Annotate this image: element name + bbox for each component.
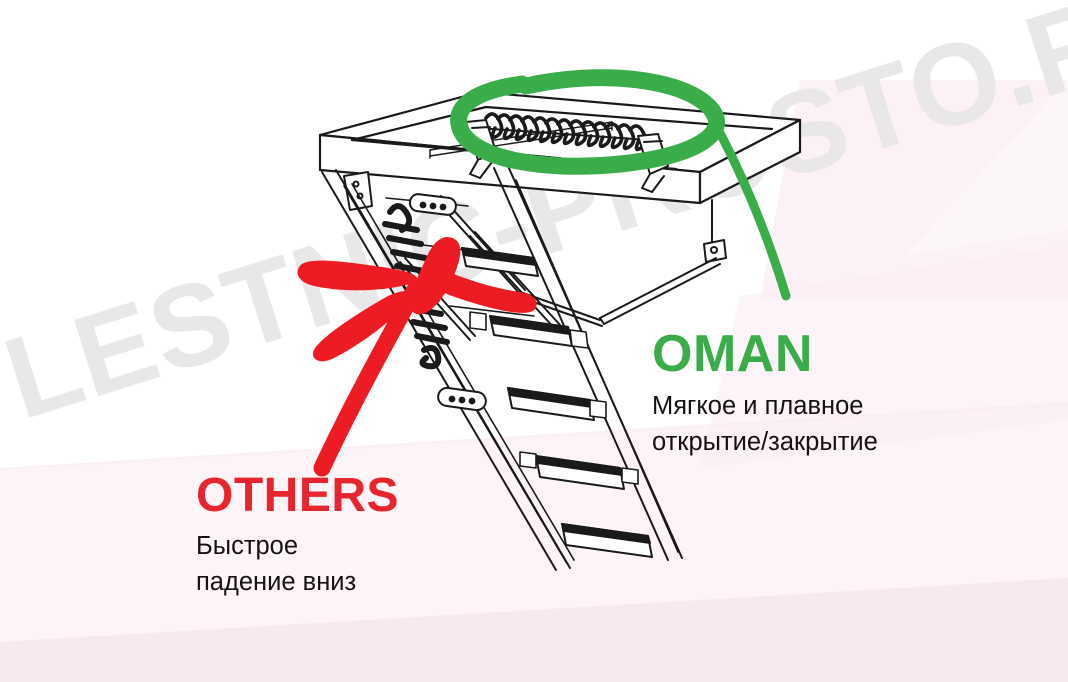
watermark-text: LESTNIC-PROSTO.RU — [0, 0, 1068, 446]
red-annotation-layer — [0, 0, 1068, 682]
mount-plate-left — [344, 172, 372, 210]
hatch-box-frame — [320, 92, 800, 203]
callout-oman-line-2: открытие/закрытие — [652, 424, 878, 460]
callout-oman-line-1: Мягкое и плавное — [652, 388, 878, 424]
coil-spring-damper — [478, 114, 648, 149]
callout-others: OTHERS Быстрое падение вниз — [196, 472, 399, 600]
perforated-link-plate — [409, 193, 457, 215]
callout-others-line-2: падение вниз — [196, 564, 399, 600]
ladder-tread — [536, 456, 624, 489]
green-ellipse-icon — [459, 78, 717, 166]
hinge-bracket-right — [638, 134, 668, 192]
ladder-coil-spring — [385, 206, 447, 366]
ladder-tread — [490, 316, 572, 346]
callout-others-body: Быстрое падение вниз — [196, 528, 399, 600]
bg-shape-upper-right — [760, 80, 1068, 300]
support-arm-right-lower — [520, 292, 602, 326]
red-arrow-icon — [298, 237, 537, 468]
callout-others-line-1: Быстрое — [196, 528, 399, 564]
scissor-linkage — [400, 196, 561, 340]
background-shapes — [0, 0, 1068, 682]
green-leader-line-icon — [700, 98, 786, 296]
bg-shape-lower-band — [0, 402, 1068, 682]
tread-bracket — [470, 312, 638, 484]
bg-shape-lower-light — [0, 406, 1068, 642]
mount-plate-right — [704, 200, 726, 262]
callout-others-title: OTHERS — [196, 472, 399, 520]
support-arm-right — [600, 258, 720, 324]
green-annotation-layer — [0, 0, 1068, 682]
ladder-tread — [508, 388, 594, 420]
bg-shape-upper-right-fade — [905, 80, 1068, 255]
spring-eyelet-left — [471, 122, 485, 132]
spring-eyelet-right — [645, 136, 659, 146]
ladder-tread — [462, 248, 538, 276]
illustration-canvas: LESTNIC-PROSTO.RU — [0, 0, 1068, 682]
ladder-illustration — [0, 0, 1068, 682]
ladder-upper-panel — [386, 198, 534, 316]
callout-oman-title: OMAN — [652, 328, 878, 380]
ladder-tread — [562, 524, 652, 557]
hinge-bracket-left — [466, 120, 496, 178]
callout-oman: OMAN Мягкое и плавное открытие/закрытие — [652, 328, 878, 460]
hatch-inner-well — [430, 122, 612, 158]
bg-shape-lower-wedge — [0, 560, 1068, 682]
perforated-link-plate — [437, 387, 487, 412]
callout-oman-body: Мягкое и плавное открытие/закрытие — [652, 388, 878, 460]
